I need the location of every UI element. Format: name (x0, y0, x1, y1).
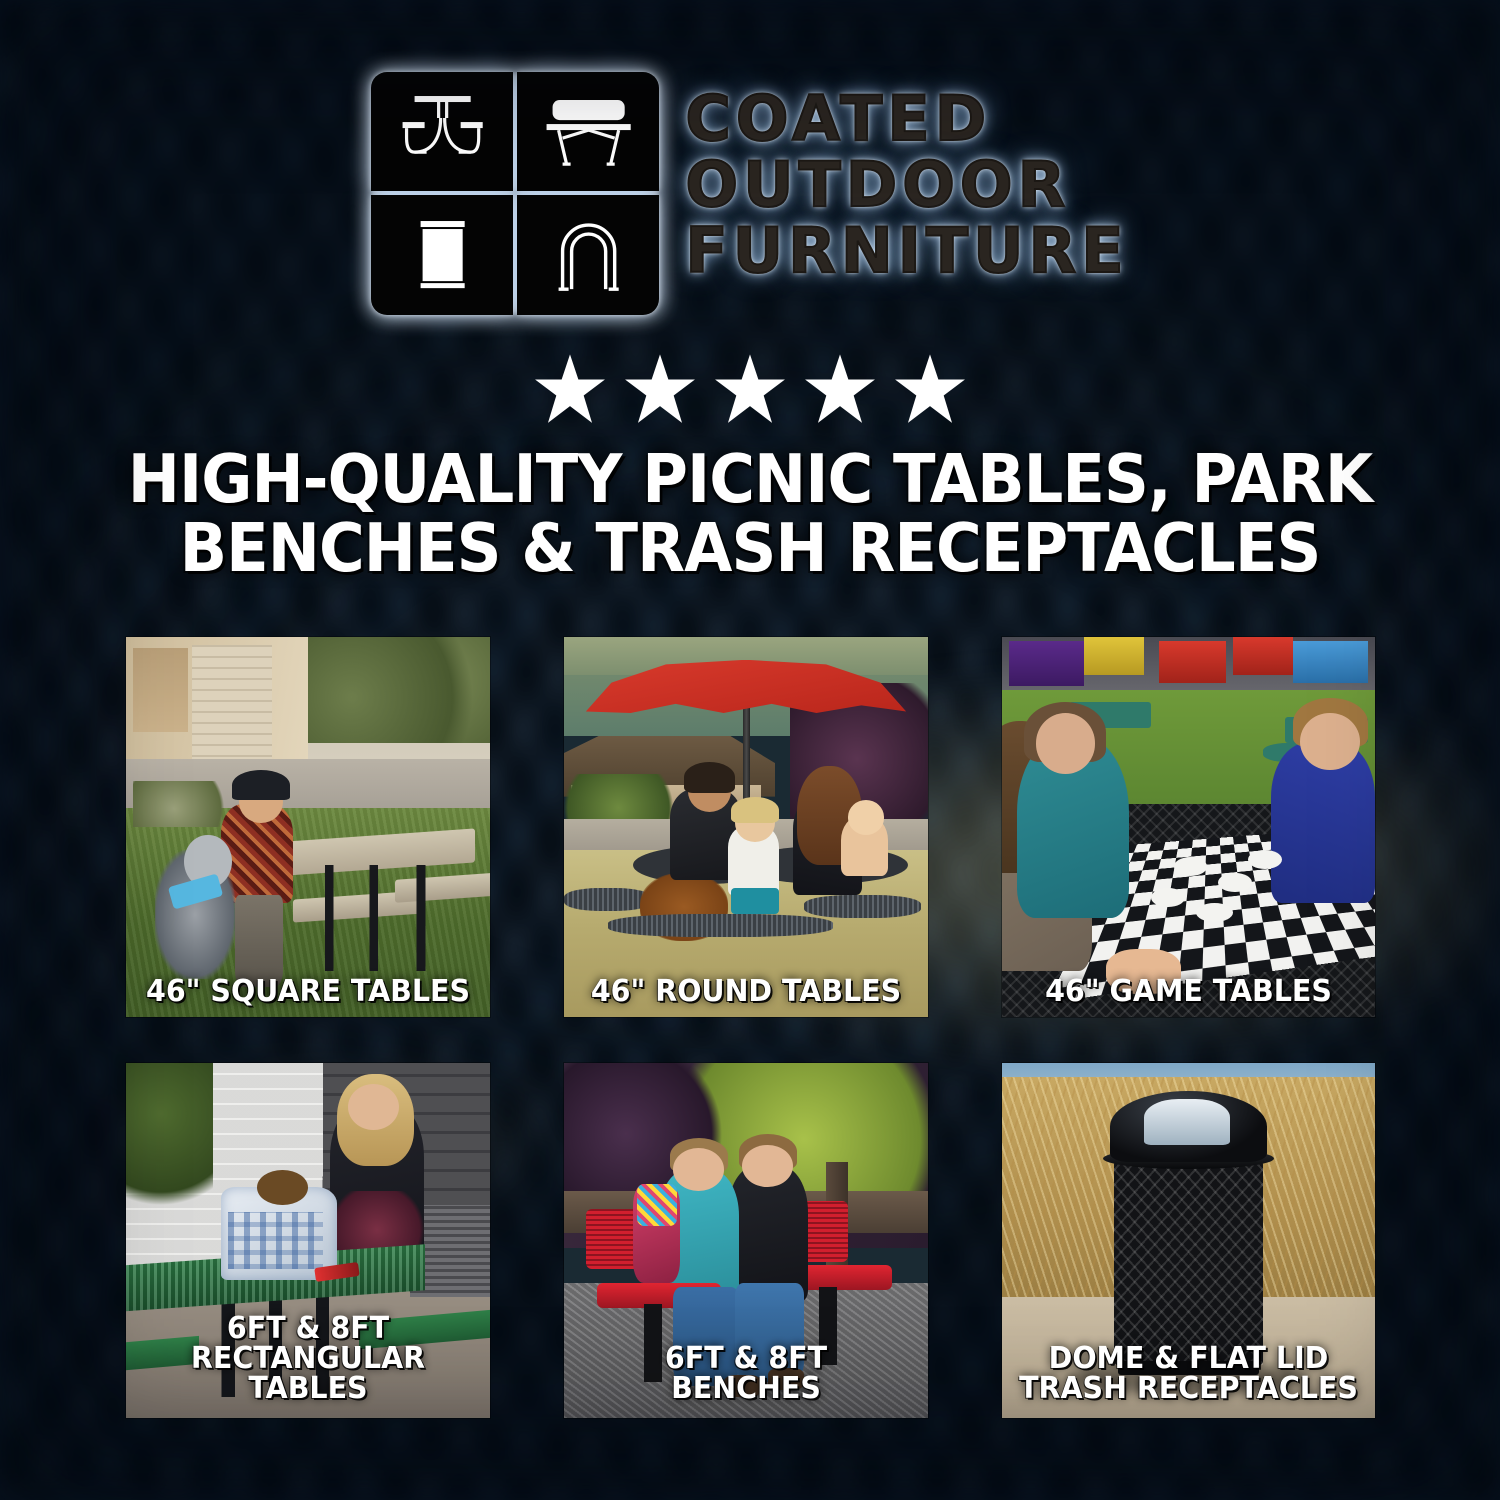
product-card-round-tables[interactable]: 46" ROUND TABLES (564, 637, 928, 1017)
picnic-table-icon (371, 72, 513, 191)
caption-line: 46" GAME TABLES (1011, 977, 1365, 1007)
product-category-grid: 46" SQUARE TABLES (126, 637, 1374, 1418)
product-caption: DOME & FLAT LID TRASH RECEPTACLES (1011, 1344, 1365, 1404)
product-caption: 46" SQUARE TABLES (135, 977, 481, 1007)
caption-line: TRASH RECEPTACLES (1011, 1374, 1365, 1404)
wordmark-line-2: OUTDOOR (685, 153, 1128, 217)
caption-line: 6FT & 8FT (135, 1314, 481, 1344)
caption-line: 46" ROUND TABLES (573, 977, 919, 1007)
product-caption: 46" GAME TABLES (1011, 977, 1365, 1007)
caption-line: 46" SQUARE TABLES (135, 977, 481, 1007)
wordmark-line-1: COATED (685, 87, 1128, 151)
star-icon (532, 352, 608, 426)
caption-line: BENCHES (573, 1374, 919, 1404)
promo-banner: COATED OUTDOOR FURNITURE HIGH-QUALITY PI… (0, 0, 1500, 1500)
bike-rack-icon (517, 195, 659, 314)
product-photo-square-tables (126, 637, 490, 1017)
brand-lockup: COATED OUTDOOR FURNITURE (0, 72, 1500, 294)
product-card-rectangular-tables[interactable]: 6FT & 8FT RECTANGULAR TABLES (126, 1063, 490, 1418)
bench-icon (517, 72, 659, 191)
star-icon (802, 352, 878, 426)
headline-line-2: BENCHES & TRASH RECEPTACLES (108, 514, 1391, 583)
star-icon (622, 352, 698, 426)
caption-line: DOME & FLAT LID (1011, 1344, 1365, 1374)
wordmark-line-3: FURNITURE (685, 219, 1128, 283)
caption-line: RECTANGULAR TABLES (135, 1344, 481, 1404)
product-card-benches[interactable]: 6FT & 8FT BENCHES (564, 1063, 928, 1418)
trash-receptacle-icon (371, 195, 513, 314)
caption-line: 6FT & 8FT (573, 1344, 919, 1374)
brand-wordmark: COATED OUTDOOR FURNITURE (685, 83, 1128, 283)
product-card-square-tables[interactable]: 46" SQUARE TABLES (126, 637, 490, 1017)
star-icon (892, 352, 968, 426)
product-photo-game-tables (1002, 637, 1375, 1017)
star-rating (0, 352, 1500, 426)
headline-line-1: HIGH-QUALITY PICNIC TABLES, PARK (108, 445, 1391, 514)
brand-logo-mark (371, 72, 659, 294)
product-card-trash-receptacles[interactable]: DOME & FLAT LID TRASH RECEPTACLES (1002, 1063, 1375, 1418)
page-title: HIGH-QUALITY PICNIC TABLES, PARK BENCHES… (108, 445, 1391, 583)
product-caption: 6FT & 8FT BENCHES (573, 1344, 919, 1404)
product-caption: 46" ROUND TABLES (573, 977, 919, 1007)
product-caption: 6FT & 8FT RECTANGULAR TABLES (135, 1314, 481, 1404)
product-card-game-tables[interactable]: 46" GAME TABLES (1002, 637, 1375, 1017)
product-photo-round-tables (564, 637, 928, 1017)
star-icon (712, 352, 788, 426)
